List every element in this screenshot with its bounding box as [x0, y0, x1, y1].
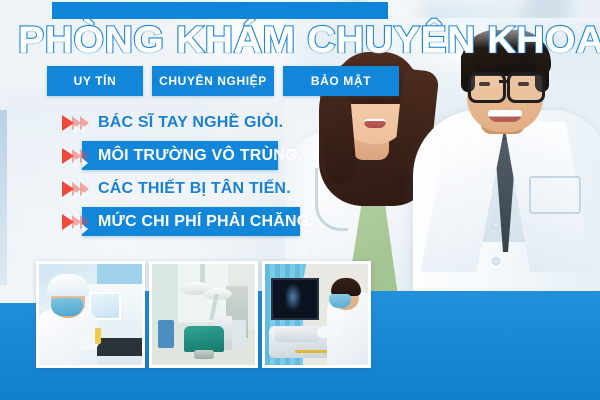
ultrasound-scan-image [285, 284, 301, 310]
list-item: MỨC CHI PHÍ PHẢI CHĂNG. [60, 205, 310, 238]
eyeglasses-bridge [499, 80, 509, 83]
lab-technician-photo[interactable] [36, 261, 145, 368]
badge-bao-mat[interactable]: BẢO MẬT [283, 66, 399, 96]
list-item: CÁC THIẾT BỊ TÂN TIẾN. [60, 172, 310, 205]
left-edge-accent [0, 110, 7, 285]
badge-uy-tin[interactable]: UY TÍN [47, 66, 143, 96]
operating-table-base [194, 350, 214, 359]
or-cart-grey [232, 320, 246, 348]
benefit-text: BÁC SĨ TAY NGHỀ GIỎI. [92, 112, 283, 134]
operating-table [184, 326, 224, 352]
red-arrow-chevron-icon [62, 145, 92, 167]
female-eye-right [381, 96, 393, 100]
ultrasound-exam-photo[interactable] [262, 261, 371, 368]
facility-photo-strip [36, 261, 371, 368]
sample-tube [95, 328, 101, 344]
male-coat-button-1 [493, 222, 499, 228]
male-coat-pocket [529, 176, 581, 214]
operating-room-photo[interactable] [149, 261, 258, 368]
feature-badge-row: UY TÍN CHUYÊN NGHIỆP BẢO MẬT [47, 66, 399, 96]
list-item: BÁC SĨ TAY NGHỀ GIỎI. [60, 106, 310, 139]
benefit-list: BÁC SĨ TAY NGHỀ GIỎI. MÔI TRƯỜNG VÔ TRÙN… [60, 106, 310, 238]
eyeglasses-lens-left [468, 72, 506, 103]
or-cart-blue [158, 320, 174, 348]
sonographer-mask [329, 294, 351, 308]
technician-cap [47, 274, 89, 296]
technician-mask [51, 298, 83, 316]
female-eye-left [355, 96, 367, 100]
list-item: MÔI TRƯỜNG VÔ TRÙNG. [60, 139, 310, 172]
female-smile [364, 119, 386, 128]
eyeglasses-lens-right [507, 72, 545, 103]
red-arrow-chevron-icon [62, 112, 92, 134]
benefit-text: MỨC CHI PHÍ PHẢI CHĂNG. [92, 211, 314, 233]
badge-chuyen-nghiep[interactable]: CHUYÊN NGHIỆP [152, 66, 274, 96]
red-arrow-chevron-icon [62, 178, 92, 200]
clinic-promo-banner: PHÒNG KHÁM CHUYÊN KHOA UY TÍN CHUYÊN NGH… [0, 0, 600, 400]
top-accent-bar [52, 2, 388, 19]
benefit-text: MÔI TRƯỜNG VÔ TRÙNG. [92, 145, 302, 167]
page-title: PHÒNG KHÁM CHUYÊN KHOA [18, 18, 474, 62]
ultrasound-keyboard [275, 330, 319, 342]
male-coat-button-2 [493, 258, 499, 264]
benefit-text: CÁC THIẾT BỊ TÂN TIẾN. [92, 178, 291, 200]
male-smile [488, 110, 522, 122]
red-arrow-chevron-icon [62, 211, 92, 233]
